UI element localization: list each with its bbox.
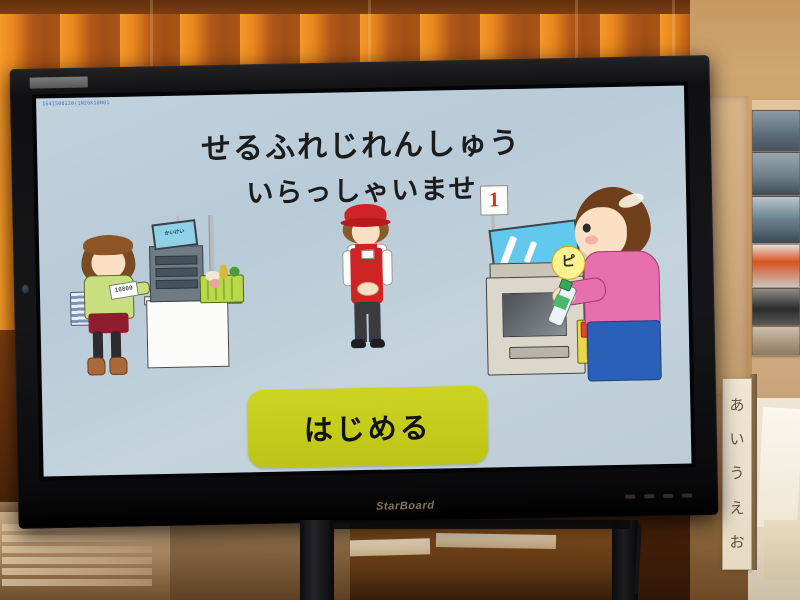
counter-body [146,299,229,369]
kiosk-slot [155,267,197,277]
skirt [587,320,662,381]
receipt-tray [509,346,569,359]
name-badge [361,250,374,259]
wall-paper-sheet [764,520,800,580]
kana-char: う [729,466,744,481]
source-indicator-icon[interactable] [663,494,673,498]
power-indicator-icon[interactable] [625,495,635,499]
title-line-1: せるふれじれんしゅう [37,122,686,172]
kana-char: い [729,432,744,447]
bezel-sticker [30,77,88,89]
osd-status-text: 1641500120(1N26K10N01 [42,100,110,107]
scan-beep-text: ピ [552,247,585,278]
kiosk-slot [155,255,197,265]
left-shelf-rows [2,524,152,594]
illustration-girl-at-self-checkout: かいけい 10 [68,215,241,388]
start-button[interactable]: はじめる [247,386,489,469]
volume-indicator-icon[interactable] [682,493,692,497]
ir-sensor-icon [22,285,29,294]
register-number: 1 [481,186,508,213]
shoe [351,339,366,348]
kiosk-screen-text: かいけい [154,226,195,238]
grocery-item-icon [210,279,220,288]
price-card: 10800 [109,281,139,300]
hair-bangs [83,235,133,256]
menu-indicator-icon[interactable] [644,494,654,498]
interactive-display[interactable]: 1641500120(1N26K10N01 せるふれじれんしゅう いらっしゃいま… [9,55,718,529]
pinned-photo [752,288,800,326]
display-brand-label: StarBoard [350,499,460,513]
screen-content[interactable]: 1641500120(1N26K10N01 せるふれじれんしゅう いらっしゃいま… [36,86,691,477]
shoe [370,339,385,348]
eye [583,223,591,232]
kana-char: お [729,535,744,550]
paper-on-desk [436,533,556,549]
register-number-sign: 1 [480,185,509,216]
wall-top-shadow [0,0,800,14]
kiosk-slot [156,279,198,289]
pinned-photo [752,326,800,356]
illustration-woman-scanning: 1 [478,178,672,382]
vegetable-icon [219,265,227,279]
pinned-photo [752,196,800,244]
display-stand-crossbar [330,520,630,529]
start-button-label: はじめる [303,405,432,450]
screenshot-root: あ い う え お 1641500120(1N26K10N01 せるふれじれんし… [0,0,800,600]
arm [381,249,393,285]
kana-chart: あ い う え お [722,378,752,570]
boot [87,357,105,375]
kiosk-screen: かいけい [151,219,198,250]
pinned-photo [752,244,800,288]
kana-char: あ [729,398,744,413]
kana-char: え [729,501,744,516]
pinned-photo [752,152,800,196]
illustration-store-clerk [330,203,403,372]
display-stand-column [300,520,334,600]
scan-beep-bubble: ピ [551,246,586,281]
boot [109,357,127,375]
pinned-photo [752,110,800,152]
price-card-text: 10800 [110,282,138,298]
wall-paper-sheet [757,407,800,529]
